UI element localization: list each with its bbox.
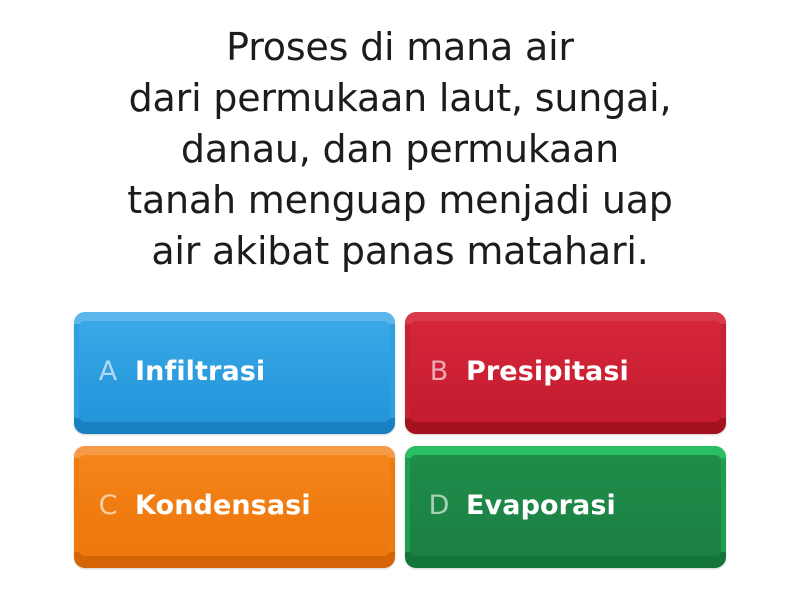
answer-label-a: Infiltrasi [135, 357, 390, 387]
question-text: Proses di mana air dari permukaan laut, … [70, 22, 730, 277]
button-top-highlight [74, 312, 395, 324]
question-area: Proses di mana air dari permukaan laut, … [0, 0, 800, 277]
button-bottom-edge [405, 552, 726, 568]
answer-letter-c: C [81, 492, 135, 519]
answer-option-c[interactable]: C Kondensasi [74, 446, 395, 568]
answer-option-a-face: A Infiltrasi [79, 321, 390, 422]
button-top-highlight [405, 312, 726, 324]
answer-option-d[interactable]: D Evaporasi [405, 446, 726, 568]
button-top-highlight [74, 446, 395, 458]
answer-option-a[interactable]: A Infiltrasi [74, 312, 395, 434]
quiz-card: Proses di mana air dari permukaan laut, … [0, 0, 800, 600]
answer-option-c-face: C Kondensasi [79, 455, 390, 556]
answer-option-b[interactable]: B Presipitasi [405, 312, 726, 434]
answer-option-d-face: D Evaporasi [410, 455, 721, 556]
button-bottom-edge [405, 418, 726, 434]
button-top-highlight [405, 446, 726, 458]
answer-letter-b: B [412, 358, 466, 385]
answer-label-b: Presipitasi [466, 357, 721, 387]
button-bottom-edge [74, 418, 395, 434]
answer-label-c: Kondensasi [135, 491, 390, 521]
answer-letter-d: D [412, 492, 466, 519]
button-bottom-edge [74, 552, 395, 568]
answer-letter-a: A [81, 358, 135, 385]
answer-label-d: Evaporasi [466, 491, 721, 521]
answer-option-b-face: B Presipitasi [410, 321, 721, 422]
answer-options-grid: A Infiltrasi B Presipitasi C Kondensasi [74, 312, 726, 568]
